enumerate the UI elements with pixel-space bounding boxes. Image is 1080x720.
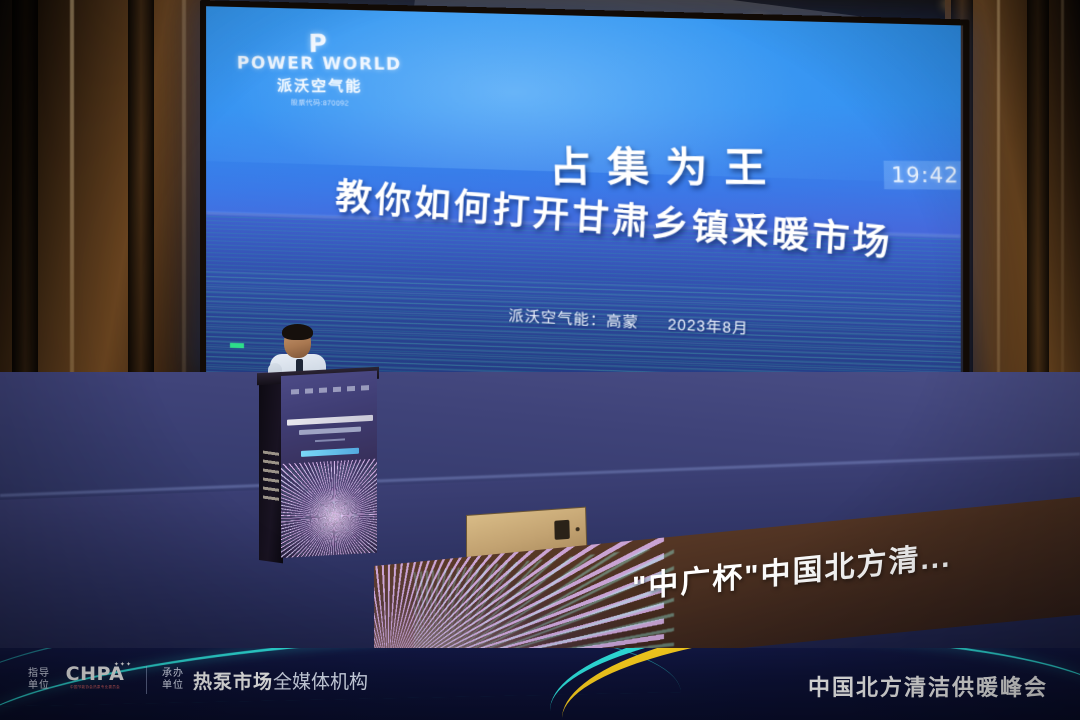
podium-divider [315, 438, 345, 442]
host-brand-group: 热泵市场全媒体机构 [193, 667, 368, 694]
hatch-screw [576, 527, 580, 531]
logo-chinese-text: 派沃空气能 [224, 74, 415, 97]
podium-event-subtitle [299, 427, 361, 435]
podium-sponsor-logos [291, 385, 369, 394]
byline-date: 2023年8月 [668, 316, 749, 338]
podium-event-title [287, 415, 373, 426]
guide-unit-label: 指导单位 [28, 668, 50, 692]
podium-front-panel [281, 371, 377, 558]
speaker-hair [282, 324, 313, 340]
screen-clock: 19:42 [884, 161, 961, 190]
host-brand-name: 热泵市场 [193, 672, 273, 693]
host-unit-label: 承办单位 [162, 668, 184, 692]
podium [259, 376, 377, 562]
podium-side-panel [259, 380, 283, 563]
host-brand-suffix: 全媒体机构 [273, 672, 368, 693]
banner-divider [146, 666, 147, 694]
chpa-stars-icon: ✦✦✦ [114, 661, 132, 668]
conference-photo: P POWER WORLD 派沃空气能 股票代码:870092 占集为王 教你如… [0, 0, 1080, 720]
logo-stock-code: 股票代码:870092 [225, 97, 416, 109]
podium-side-text [263, 451, 279, 505]
podium-event-date [301, 448, 359, 457]
bottom-banner: 指导单位 ✦✦✦ CHPA 中国节能协会热泵专业委员会 承办单位 热泵市场全媒体… [0, 648, 1080, 720]
logo-english-text: POWER WORLD [224, 53, 415, 75]
screen-green-artifact [230, 343, 244, 348]
hatch-handle-slot [554, 520, 570, 540]
banner-left-group: 指导单位 ✦✦✦ CHPA 中国节能协会热泵专业委员会 承办单位 热泵市场全媒体… [28, 664, 368, 696]
chpa-logo: ✦✦✦ CHPA 中国节能协会热泵专业委员会 [59, 664, 131, 696]
podium-firework-graphic-overlay [281, 461, 377, 558]
brand-logo: P POWER WORLD 派沃空气能 股票代码:870092 [223, 30, 415, 109]
banner-event-name: 中国北方清洁供暖峰会 [808, 670, 1048, 702]
